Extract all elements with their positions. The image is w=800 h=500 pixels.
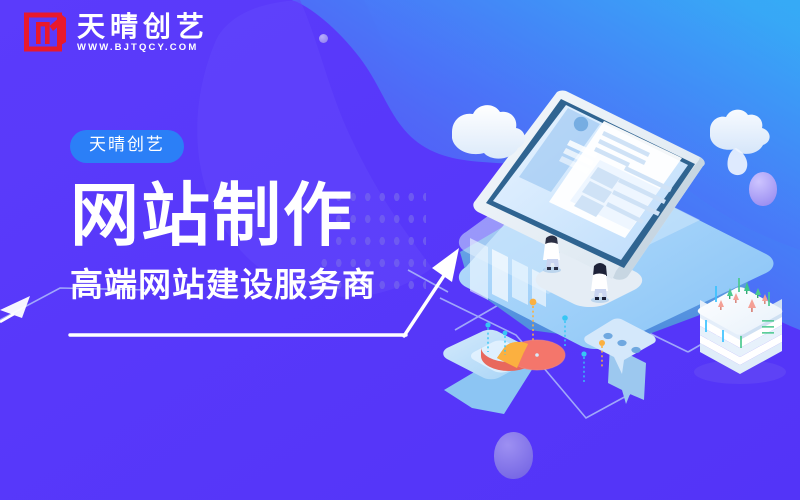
brand-badge: 天晴创艺: [70, 130, 184, 163]
brand-logo[interactable]: 天晴创艺 WWW.BJTQCY.COM: [24, 12, 209, 54]
cloud-icon: [710, 110, 770, 176]
small-arrow-icon: [0, 296, 30, 322]
page-title: 网站制作: [70, 182, 376, 251]
logo-company-name: 天晴创艺: [77, 13, 209, 41]
page-subtitle: 高端网站建设服务商: [70, 268, 376, 301]
logo-text-block: 天晴创艺 WWW.BJTQCY.COM: [77, 13, 209, 53]
logo-website-url: WWW.BJTQCY.COM: [77, 43, 209, 53]
cloud-icon: [452, 105, 525, 159]
tqcy-square-mountain-mark: [24, 12, 68, 54]
promo-banner: 天晴创艺 WWW.BJTQCY.COM 天晴创艺 网站制作 高端网站建设服务商: [0, 0, 800, 500]
headline-block: 天晴创艺 网站制作 高端网站建设服务商: [70, 130, 376, 301]
